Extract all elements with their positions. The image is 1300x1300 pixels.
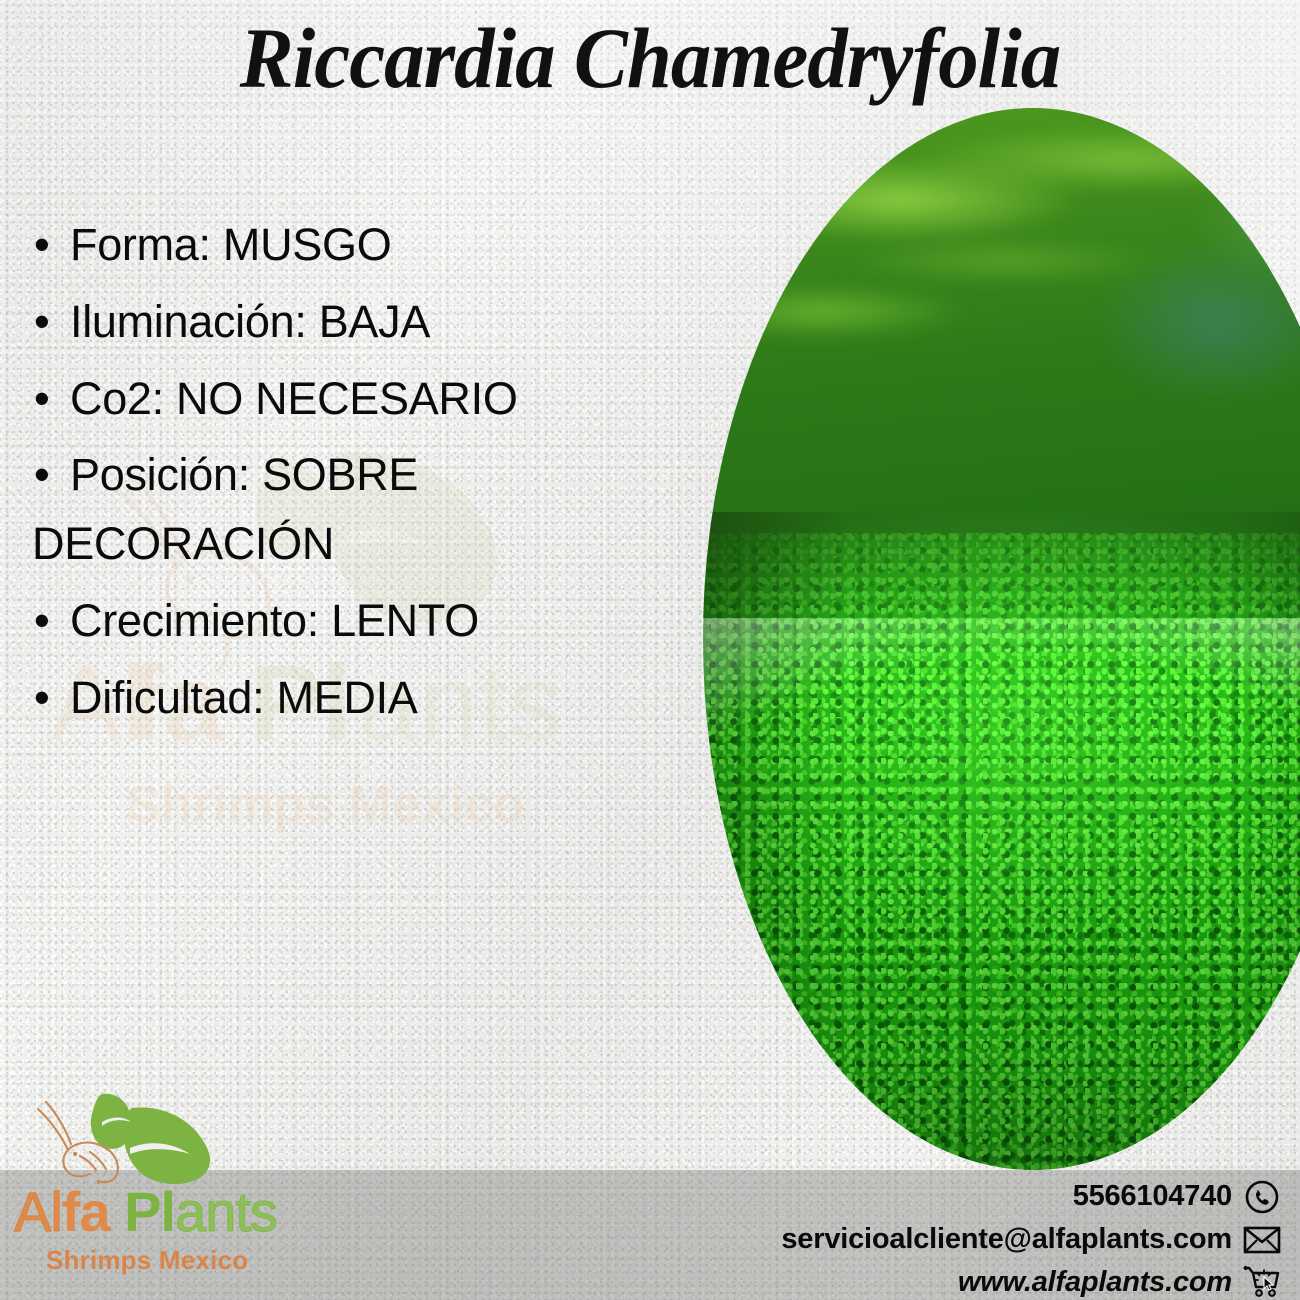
bullet-icon: • xyxy=(34,598,70,645)
spec-forma: Forma: MUSGO xyxy=(70,222,724,269)
spec-posicion: Posición: SOBRE xyxy=(70,452,724,499)
spec-crecimiento: Crecimiento: LENTO xyxy=(70,598,724,645)
plant-spec-list: • Forma: MUSGO • Iluminación: BAJA • Co2… xyxy=(34,222,724,752)
logo-word-al: Al xyxy=(14,1180,62,1243)
logo-tagline: Shrimps Mexico xyxy=(46,1245,248,1276)
logo-wordmark: Alfa Plants xyxy=(14,1184,277,1240)
spec-posicion-continuation: DECORACIÓN xyxy=(32,521,724,568)
plant-photo xyxy=(703,108,1300,1170)
shopping-cart-icon xyxy=(1242,1264,1282,1300)
spec-iluminacion: Iluminación: BAJA xyxy=(70,299,724,346)
logo-word-space xyxy=(110,1180,125,1243)
leaves-icon xyxy=(32,1092,222,1184)
contact-phone-row[interactable]: 5566104740 xyxy=(642,1176,1282,1217)
website-url[interactable]: www.alfaplants.com xyxy=(958,1266,1232,1299)
envelope-icon xyxy=(1242,1221,1282,1258)
bullet-icon: • xyxy=(34,299,70,346)
list-item: • Posición: SOBRE xyxy=(34,452,724,499)
list-item: • Co2: NO NECESARIO xyxy=(34,376,724,423)
phone-icon xyxy=(1242,1178,1282,1215)
list-item: • Forma: MUSGO xyxy=(34,222,724,269)
bullet-icon: • xyxy=(34,675,70,722)
logo-word-fa: fa xyxy=(62,1180,110,1243)
list-item: • Iluminación: BAJA xyxy=(34,299,724,346)
photo-moss-shading xyxy=(703,512,1300,1170)
bullet-icon: • xyxy=(34,452,70,499)
contact-website-row[interactable]: www.alfaplants.com xyxy=(642,1262,1282,1300)
contact-email-row[interactable]: servicioalcliente@alfaplants.com xyxy=(642,1219,1282,1260)
list-item: • Dificultad: MEDIA xyxy=(34,675,724,722)
list-item: • Crecimiento: LENTO xyxy=(34,598,724,645)
page-title: Riccardia Chamedryfolia xyxy=(39,8,1261,108)
bullet-icon: • xyxy=(34,376,70,423)
spec-co2: Co2: NO NECESARIO xyxy=(70,376,724,423)
spec-dificultad: Dificultad: MEDIA xyxy=(70,675,724,722)
email-address[interactable]: servicioalcliente@alfaplants.com xyxy=(781,1223,1232,1256)
phone-number[interactable]: 5566104740 xyxy=(1073,1180,1232,1213)
logo-word-pl: Pl xyxy=(124,1180,175,1243)
poster-canvas: Al fa Pl ants Shrimps Mexico Riccardia C… xyxy=(0,0,1300,1300)
brand-logo: Alfa Plants Shrimps Mexico xyxy=(14,1092,294,1292)
contact-block: 5566104740 servicioalcliente@alfaplants.… xyxy=(642,1176,1282,1300)
logo-word-ants: ants xyxy=(175,1180,277,1243)
bullet-icon: • xyxy=(34,222,70,269)
